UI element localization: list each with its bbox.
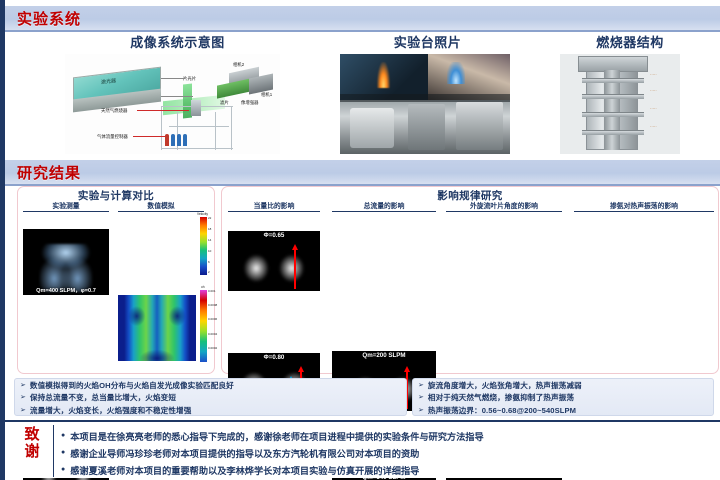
panel-experiment-vs-simulation: 实验与计算对比 实验测量 数值模拟 Qm=400 SLPM，φ=0.7 Velo… (17, 186, 215, 374)
label-qm-200: Qm=200 SLPM (332, 352, 436, 359)
caption-experiment-flame-row1: Qm=400 SLPM，φ=0.7 (23, 286, 109, 294)
sheet-optic-label: 片光片 (183, 76, 196, 82)
colorbar-tick-velocity-min: 2 (208, 271, 210, 274)
panel-influence-study: 影响规律研究 当量比的影响 总流量的影响 外旋流叶片角度的影响 掺氨对热声振荡的… (221, 186, 719, 374)
figure-block-imaging-schematic: 成像系统示意图 激光器 片光片 相机2 相机1 滤片 像增强器 (65, 32, 290, 154)
photo-seam (340, 94, 510, 102)
conclusion-text: 相对于纯天然气燃烧，掺氨抑制了热声振荡 (428, 392, 574, 403)
acknowledgement-text: 感谢夏溪老师对本项目的重要帮助以及李林烨学长对本项目实验与仿真开展的详细指导 (70, 463, 419, 477)
camera-body-2-shape (217, 78, 251, 98)
conclusion-item: ➢ 相对于纯天然气燃烧，掺氨抑制了热声振荡 (413, 392, 713, 405)
conclusion-item: ➢ 热声振荡边界：0.56~0.68@200~540SLPM (413, 404, 713, 417)
arrow-red-head-g1b (298, 366, 304, 372)
burner-ring-4 (582, 130, 644, 135)
conclusion-text: 热声振荡边界：0.56~0.68@200~540SLPM (428, 405, 576, 416)
acknowledgement-text: 感谢企业导师冯珍珍老师对本项目提供的指导以及东方汽轮机有限公司对本项目的资助 (70, 446, 419, 460)
conclusion-text: 保持总流量不变，总当量比增大，火焰变短 (30, 392, 176, 403)
section-title-research-results: 研究结果 (5, 162, 81, 183)
bullet-dot-icon: ● (61, 449, 65, 456)
colorbar-tick-oh-4: 0.0004 (208, 333, 217, 336)
burner-ring-3 (582, 112, 644, 117)
colorbar-tick-oh-3: 0.0006 (208, 318, 217, 321)
figure-title-test-bench-photo: 实验台照片 (340, 32, 515, 51)
photo-equipment-1 (350, 108, 394, 148)
photo-flame-blue (447, 62, 465, 84)
conclusions-right-box: ➢ 旋流角度增大，火焰张角增大，热声振荡减弱 ➢ 相对于纯天然气燃烧，掺氨抑制了… (412, 378, 714, 416)
acknowledgement-list: ● 本项目是在徐亮亮老师的悉心指导下完成的，感谢徐老师在项目进程中提供的实验条件… (61, 427, 711, 478)
acknowledgement-item: ● 本项目是在徐亮亮老师的悉心指导下完成的，感谢徐老师在项目进程中提供的实验条件… (61, 427, 711, 444)
conclusion-item: ➢ 保持总流量不变，总当量比增大，火焰变短 (15, 392, 406, 405)
flow-controller-callout-label: 气体流量控制器 (97, 134, 128, 140)
colorbar-tick-velocity-5: 6 (208, 261, 210, 264)
burner-annotation-1: ····· (650, 72, 657, 77)
photo-equipment-2 (408, 104, 445, 150)
burner-shape (191, 100, 201, 116)
conclusion-text: 数值模拟得到的火焰OH分布与火焰自发光成像实验匹配良好 (30, 380, 234, 391)
bullet-arrow-icon: ➢ (20, 407, 26, 414)
camera2-label: 相机2 (233, 62, 244, 68)
group-header-equivalence-ratio: 当量比的影响 (228, 203, 320, 212)
arrow-red-head-g1a (292, 244, 298, 250)
column-header-experiment: 实验测量 (23, 203, 109, 212)
results-area: 实验与计算对比 实验测量 数值模拟 Qm=400 SLPM，φ=0.7 Velo… (5, 186, 720, 376)
burner-callout-label: 天然气燃烧器 (101, 108, 127, 114)
section-title-experiment-system: 实验系统 (5, 8, 81, 29)
arrow-red-head-g2a (404, 366, 410, 372)
colorbar-title-oh: oh (201, 285, 205, 289)
acknowledgement-item: ● 感谢夏溪老师对本项目的重要帮助以及李林烨学长对本项目实验与仿真开展的详细指导 (61, 461, 711, 478)
conclusion-item: ➢ 流量增大，火焰变长，火焰强度和不稳定性增强 (15, 404, 406, 417)
colorbar-oh (200, 290, 207, 362)
bullet-dot-icon: ● (61, 466, 65, 473)
burner-ring-2 (582, 94, 644, 99)
conclusion-item: ➢ 数值模拟得到的火焰OH分布与火焰自发光成像实验匹配良好 (15, 379, 406, 392)
figure-block-test-bench-photo: 实验台照片 (340, 32, 515, 154)
bullet-arrow-icon: ➢ (20, 394, 26, 401)
burner-annotation-4: ····· (650, 124, 657, 129)
column-header-simulation: 数值模拟 (118, 203, 204, 212)
image-simulation-velocity-row1 (118, 295, 196, 361)
group-header-total-flow: 总流量的影响 (332, 203, 436, 212)
panel-title-influence-study: 影响规律研究 (222, 187, 718, 203)
label-phi-065: Φ=0.65 (228, 232, 320, 239)
photo-equipment-3 (456, 102, 504, 150)
camera1-label: 相机1 (261, 92, 272, 98)
colorbar-tick-oh-1: 0.001 (208, 290, 216, 293)
section-header-research-results: 研究结果 (5, 160, 720, 184)
conclusion-item: ➢ 旋流角度增大，火焰张角增大，热声振荡减弱 (413, 379, 713, 392)
group-header-swirl-angle: 外旋流叶片角度的影响 (446, 203, 562, 212)
imaging-system-schematic-image: 激光器 片光片 相机2 相机1 滤片 像增强器 (65, 54, 280, 154)
conclusions-left-box: ➢ 数值模拟得到的火焰OH分布与火焰自发光成像实验匹配良好 ➢ 保持总流量不变，… (14, 378, 407, 416)
bullet-arrow-icon: ➢ (418, 407, 424, 414)
acknowledgement-divider (53, 425, 54, 477)
gas-bottles-shape (165, 132, 191, 146)
image-phi-065: Φ=0.65 (228, 231, 320, 291)
acknowledgement-item: ● 感谢企业导师冯珍珍老师对本项目提供的指导以及东方汽轮机有限公司对本项目的资助 (61, 444, 711, 461)
arrow-red-shaft-g1a (294, 249, 296, 289)
bullet-dot-icon: ● (61, 432, 65, 439)
bullet-arrow-icon: ➢ (20, 382, 26, 389)
section-header-experiment-system: 实验系统 (5, 6, 720, 30)
burner-annotation-2: ····· (650, 88, 657, 93)
photo-flame-orange (377, 62, 390, 88)
conclusion-text: 流量增大，火焰变长，火焰强度和不稳定性增强 (30, 405, 192, 416)
colorbar-tick-velocity-2: 18 (208, 228, 211, 231)
conclusion-text: 旋流角度增大，火焰张角增大，热声振荡减弱 (428, 380, 582, 391)
burner-annotation-3: ····· (650, 106, 657, 111)
experiment-figures-row: 成像系统示意图 激光器 片光片 相机2 相机1 滤片 像增强器 (5, 32, 720, 158)
colorbar-tick-velocity-max: 22 (208, 217, 211, 220)
figure-block-burner-structure: 燃烧器结构 ····· ····· ····· ····· (560, 32, 700, 154)
acknowledgement-label: 致 谢 (15, 426, 49, 461)
flame-lobes-shape (240, 248, 308, 288)
colorbar-tick-oh-2: 0.0008 (208, 304, 217, 307)
test-bench-photo-image (340, 54, 510, 154)
bullet-arrow-icon: ➢ (418, 394, 424, 401)
panel-title-experiment-vs-simulation: 实验与计算对比 (18, 187, 214, 203)
acknowledgement-label-line2: 谢 (15, 443, 49, 460)
label-phi-080: Φ=0.80 (228, 354, 320, 361)
image-experiment-flame-row1: Qm=400 SLPM，φ=0.7 (23, 229, 109, 295)
acknowledgement-label-line1: 致 (15, 426, 49, 443)
burner-ring-1 (582, 78, 644, 83)
colorbar-velocity (200, 217, 207, 275)
colorbar-tick-oh-5: 0.0002 (208, 347, 217, 350)
group-header-ammonia-blend: 掺氨对热声振荡的影响 (574, 203, 714, 212)
colorbar-tick-velocity-3: 14 (208, 239, 211, 242)
intensifier-label: 像增强器 (241, 100, 259, 106)
burner-structure-image: ····· ····· ····· ····· (560, 54, 680, 154)
figure-title-imaging-schematic: 成像系统示意图 (65, 32, 290, 51)
acknowledgement-section: 致 谢 ● 本项目是在徐亮亮老师的悉心指导下完成的，感谢徐老师在项目进程中提供的… (5, 420, 720, 478)
bullet-arrow-icon: ➢ (418, 382, 424, 389)
colorbar-title-velocity: Velocity (197, 212, 208, 216)
acknowledgement-text: 本项目是在徐亮亮老师的悉心指导下完成的，感谢徐老师在项目进程中提供的实验条件与研… (70, 429, 483, 443)
figure-title-burner-structure: 燃烧器结构 (560, 32, 700, 51)
colorbar-tick-velocity-4: 10 (208, 250, 211, 253)
